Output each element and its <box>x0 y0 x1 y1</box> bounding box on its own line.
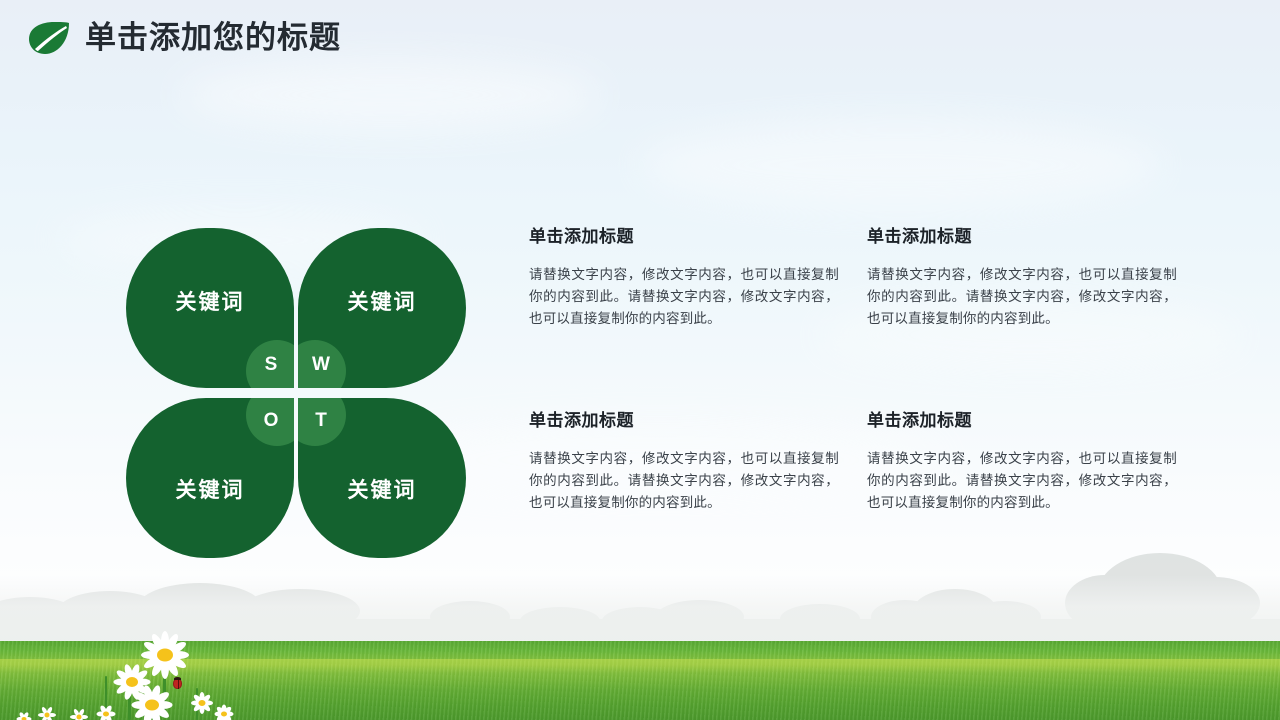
daisy-flower <box>130 690 174 720</box>
leaf-icon <box>26 20 72 56</box>
daisy-flower <box>190 694 214 712</box>
cloud-wisp <box>640 120 1160 210</box>
ladybug-icon <box>173 678 182 689</box>
quadrant-label: 关键词 <box>298 474 466 504</box>
daisy-flower <box>16 712 32 720</box>
content-block[interactable]: 单击添加标题 请替换文字内容，修改文字内容，也可以直接复制你的内容到此。请替换文… <box>867 410 1177 514</box>
swot-letter-o: O <box>246 398 294 446</box>
block-body: 请替换文字内容，修改文字内容，也可以直接复制你的内容到此。请替换文字内容，修改文… <box>867 264 1177 330</box>
quadrant-label: 关键词 <box>298 286 466 316</box>
daisy-flower <box>214 706 234 720</box>
block-title: 单击添加标题 <box>529 226 839 248</box>
block-body: 请替换文字内容，修改文字内容，也可以直接复制你的内容到此。请替换文字内容，修改文… <box>529 448 839 514</box>
block-body: 请替换文字内容，修改文字内容，也可以直接复制你的内容到此。请替换文字内容，修改文… <box>529 264 839 330</box>
block-title: 单击添加标题 <box>529 410 839 432</box>
swot-letter-w: W <box>298 340 346 388</box>
daisy-cluster <box>0 620 360 720</box>
content-block[interactable]: 单击添加标题 请替换文字内容，修改文字内容，也可以直接复制你的内容到此。请替换文… <box>529 410 839 514</box>
quadrant-label: 关键词 <box>126 286 294 316</box>
swot-quadrant-opportunities[interactable]: 关键词 O <box>126 398 294 558</box>
content-block[interactable]: 单击添加标题 请替换文字内容，修改文字内容，也可以直接复制你的内容到此。请替换文… <box>529 226 839 330</box>
block-title: 单击添加标题 <box>867 226 1177 248</box>
slide-header: 单击添加您的标题 <box>0 0 1280 74</box>
swot-quadrant-threats[interactable]: 关键词 T <box>298 398 466 558</box>
block-body: 请替换文字内容，修改文字内容，也可以直接复制你的内容到此。请替换文字内容，修改文… <box>867 448 1177 514</box>
daisy-flower <box>140 638 190 672</box>
content-blocks: 单击添加标题 请替换文字内容，修改文字内容，也可以直接复制你的内容到此。请替换文… <box>529 226 1189 536</box>
daisy-flower <box>96 706 116 720</box>
swot-letter-t: T <box>298 398 346 446</box>
daisy-flower <box>38 708 56 720</box>
swot-quadrant-strengths[interactable]: 关键词 S <box>126 228 294 388</box>
block-title: 单击添加标题 <box>867 410 1177 432</box>
daisy-flower <box>70 710 88 720</box>
swot-letter-s: S <box>246 340 294 388</box>
swot-clover-diagram: 关键词 S 关键词 W 关键词 O 关键词 T <box>126 228 466 558</box>
content-block[interactable]: 单击添加标题 请替换文字内容，修改文字内容，也可以直接复制你的内容到此。请替换文… <box>867 226 1177 330</box>
quadrant-label: 关键词 <box>126 474 294 504</box>
swot-quadrant-weaknesses[interactable]: 关键词 W <box>298 228 466 388</box>
slide-canvas: 单击添加您的标题 关键词 S 关键词 W 关键词 O 关键词 T 单击添加标题 … <box>0 0 1280 720</box>
page-title: 单击添加您的标题 <box>85 16 341 60</box>
